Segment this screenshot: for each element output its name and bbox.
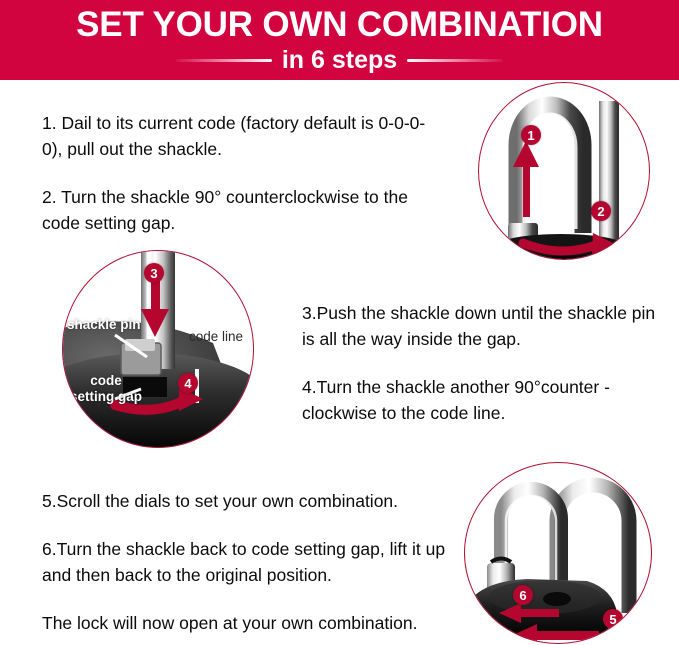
page-subtitle: in 6 steps: [282, 46, 397, 74]
label-code-setting-gap: code setting gap: [63, 373, 149, 405]
divider-line-right: [407, 59, 503, 62]
label-code-line: code line: [189, 329, 243, 345]
instruction-step-5: 5.Scroll the dials to set your own combi…: [42, 488, 462, 514]
divider-line-left: [176, 59, 272, 62]
instruction-step-2: 2. Turn the shackle 90° counterclockwise…: [42, 184, 442, 236]
instructions-top-block: 1. Dail to its current code (factory def…: [42, 110, 442, 236]
label-shackle-pin: shackle pin: [67, 317, 141, 333]
step-badge-2: 2: [591, 201, 611, 221]
figure-padlock-turn-back: 6 5: [464, 462, 652, 644]
padlock-illustration-bottom: [465, 463, 651, 643]
instruction-poster: SET YOUR OWN COMBINATION in 6 steps 1. D…: [0, 0, 679, 645]
figure-padlock-pull-turn: 1 2: [478, 82, 650, 260]
instructions-middle-block: 3.Push the shackle down until the shackl…: [302, 300, 662, 426]
instruction-step-6: 6.Turn the shackle back to code setting …: [42, 536, 462, 588]
page-title: SET YOUR OWN COMBINATION: [0, 5, 679, 45]
step-badge-5: 5: [603, 609, 623, 629]
step-badge-1: 1: [521, 125, 541, 145]
subtitle-row: in 6 steps: [0, 45, 679, 75]
figure-shackle-pin-gap: shackle pin code setting gap code line 3…: [62, 250, 254, 448]
instruction-closing-note: The lock will now open at your own combi…: [42, 610, 462, 636]
step-badge-3: 3: [144, 263, 164, 283]
instruction-step-4: 4.Turn the shackle another 90°counter -c…: [302, 374, 662, 426]
padlock-illustration-top: [479, 83, 649, 259]
instruction-step-1: 1. Dail to its current code (factory def…: [42, 110, 442, 162]
header-banner: SET YOUR OWN COMBINATION in 6 steps: [0, 0, 679, 80]
step-badge-6: 6: [513, 585, 533, 605]
step-badge-4: 4: [178, 373, 198, 393]
instructions-bottom-block: 5.Scroll the dials to set your own combi…: [42, 488, 462, 636]
instruction-step-3: 3.Push the shackle down until the shackl…: [302, 300, 662, 352]
